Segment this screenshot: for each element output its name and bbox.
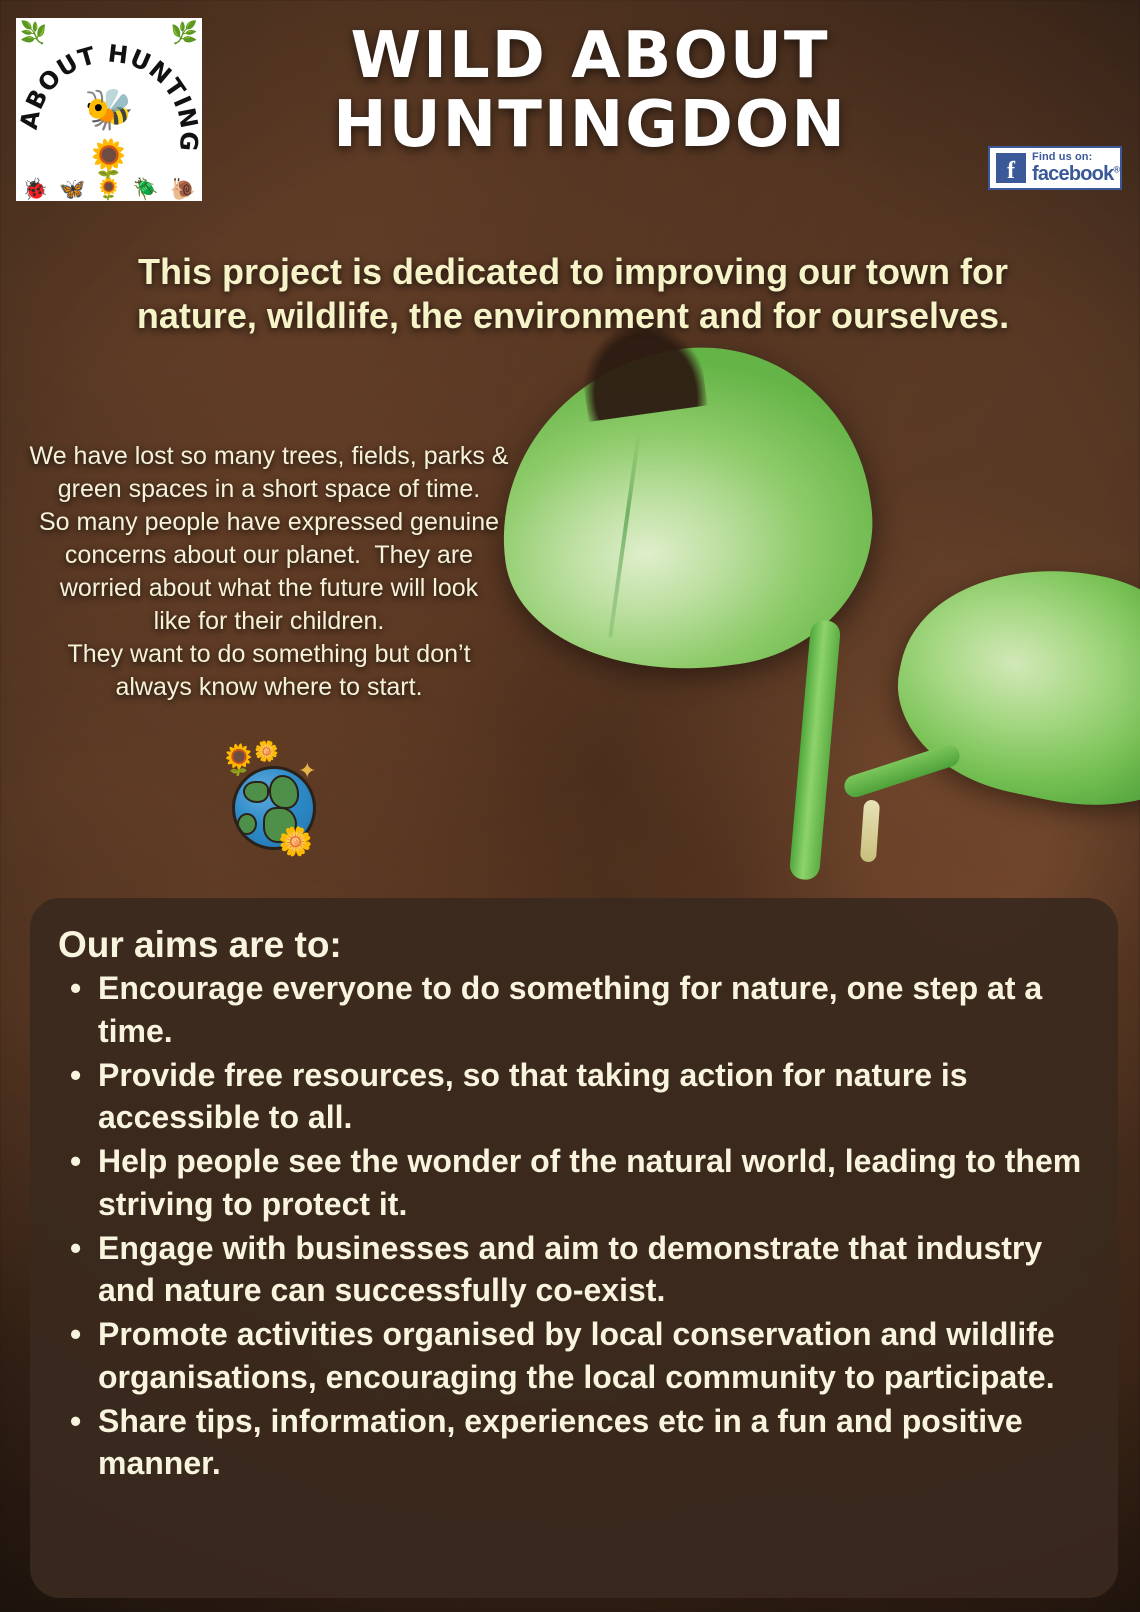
- our-aims-list: •Encourage everyone to do something for …: [56, 967, 1096, 1484]
- page-title-line-1: WILD ABOUT: [240, 22, 940, 91]
- bullet-icon: •: [70, 967, 81, 1009]
- bullet-icon: •: [70, 1313, 81, 1355]
- subtitle-statement: This project is dedicated to improving o…: [78, 250, 1068, 338]
- sunflower-decoration-icon: 🌻: [220, 746, 257, 776]
- aim-text: Provide free resources, so that taking a…: [98, 1057, 968, 1135]
- bullet-icon: •: [70, 1140, 81, 1182]
- landmass-shape: [237, 813, 257, 835]
- facebook-brand-label: facebook®: [1032, 164, 1119, 184]
- aim-text: Promote activities organised by local co…: [98, 1316, 1055, 1394]
- sparkle-icon: ✦: [298, 760, 316, 782]
- intro-paragraph: We have lost so many trees, fields, park…: [14, 440, 524, 704]
- our-aims-heading: Our aims are to:: [58, 924, 1096, 965]
- page-title: WILD ABOUT HUNTINGDON: [240, 22, 940, 160]
- landmass-shape: [269, 775, 299, 809]
- aim-list-item: •Engage with businesses and aim to demon…: [56, 1227, 1096, 1311]
- bullet-icon: •: [70, 1227, 81, 1269]
- intro-line: always know where to start.: [14, 671, 524, 704]
- facebook-badge-text: Find us on: facebook®: [1032, 152, 1119, 184]
- aim-list-item: •Provide free resources, so that taking …: [56, 1054, 1096, 1138]
- bullet-icon: •: [70, 1400, 81, 1442]
- aim-text: Share tips, information, experiences etc…: [98, 1403, 1023, 1481]
- snail-icon: 🐌: [170, 179, 196, 200]
- bee-icon: 🐝: [84, 90, 134, 130]
- intro-line: worried about what the future will look: [14, 572, 524, 605]
- aim-list-item: •Share tips, information, experiences et…: [56, 1400, 1096, 1484]
- landmass-shape: [243, 781, 269, 803]
- logo-bug-row: 🐞 🦋 🌻 🪲 🐌: [16, 179, 202, 200]
- daisy-decoration-icon: 🌼: [278, 828, 313, 856]
- aim-list-item: •Promote activities organised by local c…: [56, 1313, 1096, 1397]
- earth-with-flowers-emblem: 🌻 🌼 🌼 ✦: [214, 742, 332, 860]
- facebook-find-us-label: Find us on:: [1032, 152, 1119, 163]
- leaf-sprig-right-icon: 🌿: [171, 20, 198, 46]
- ladybug-icon: 🐞: [22, 179, 48, 200]
- aim-text: Engage with businesses and aim to demons…: [98, 1230, 1042, 1308]
- sunflower-icon: 🌻: [85, 141, 132, 179]
- leaf-sprig-left-icon: 🌿: [20, 20, 47, 46]
- facebook-badge[interactable]: f Find us on: facebook®: [988, 146, 1122, 190]
- bullet-icon: •: [70, 1054, 81, 1096]
- sunflower-small-icon: 🌻: [96, 179, 122, 200]
- aim-text: Encourage everyone to do something for n…: [98, 970, 1042, 1048]
- intro-line: They want to do something but don’t: [14, 638, 524, 671]
- aim-text: Help people see the wonder of the natura…: [98, 1143, 1081, 1221]
- intro-line: concerns about our planet. They are: [14, 539, 524, 572]
- facebook-brand-word: facebook: [1032, 163, 1113, 185]
- wild-about-huntingdon-logo[interactable]: WILD ABOUT HUNTINGDON 🌿 🌿 🐝 🌻 🐞 🦋 🌻 🪲 🐌: [16, 18, 202, 201]
- page-title-line-2: HUNTINGDON: [240, 91, 940, 160]
- aim-list-item: •Encourage everyone to do something for …: [56, 967, 1096, 1051]
- facebook-registered-mark: ®: [1113, 164, 1119, 174]
- beetle-icon: 🪲: [133, 179, 159, 200]
- butterfly-icon: 🦋: [59, 179, 85, 200]
- intro-line: green spaces in a short space of time.: [14, 473, 524, 506]
- intro-line: We have lost so many trees, fields, park…: [14, 440, 524, 473]
- intro-line: So many people have expressed genuine: [14, 506, 524, 539]
- intro-line: like for their children.: [14, 605, 524, 638]
- our-aims-panel: Our aims are to: •Encourage everyone to …: [30, 898, 1118, 1598]
- poster: WILD ABOUT HUNTINGDON 🌿 🌿 🐝 🌻 🐞 🦋 🌻 🪲 🐌 …: [0, 0, 1140, 1612]
- small-flower-decoration-icon: 🌼: [254, 742, 279, 762]
- aim-list-item: •Help people see the wonder of the natur…: [56, 1140, 1096, 1224]
- facebook-f-icon: f: [996, 153, 1026, 183]
